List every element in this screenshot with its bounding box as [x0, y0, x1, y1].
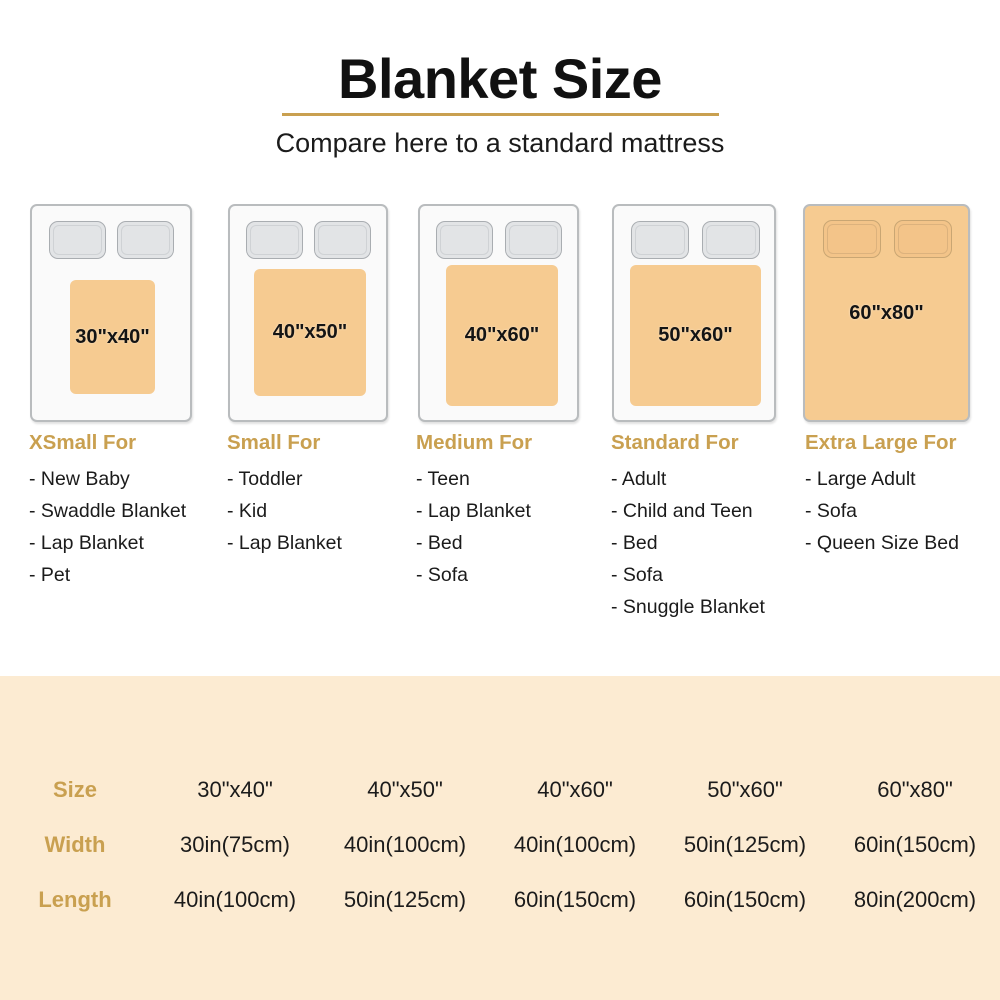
- category-list-item: - Sofa: [416, 559, 612, 591]
- table-cell: 60"x80": [830, 762, 1000, 817]
- category-list-item: - Sofa: [611, 559, 811, 591]
- category-column-extra-large: Extra Large For - Large Adult - Sofa - Q…: [805, 430, 1000, 559]
- table-cell: 40in(100cm): [490, 817, 660, 872]
- pillow-right-icon: [314, 221, 371, 259]
- row-header-width: Width: [0, 817, 150, 872]
- category-column-xsmall: XSmall For - New Baby - Swaddle Blanket …: [29, 430, 229, 591]
- category-title: Small For: [227, 430, 417, 456]
- blanket-size-label: 60"x80": [849, 302, 924, 325]
- pillow-right-icon: [702, 221, 760, 259]
- table-cell: 50"x60": [660, 762, 830, 817]
- category-title: Standard For: [611, 430, 811, 456]
- bed-diagram-extra-large: 60"x80": [803, 204, 970, 422]
- table-cell: 60in(150cm): [830, 817, 1000, 872]
- category-list-item: - Bed: [416, 527, 612, 559]
- blanket-size-label: 40"x50": [273, 321, 348, 344]
- category-column-medium: Medium For - Teen - Lap Blanket - Bed - …: [416, 430, 612, 591]
- category-list-item: - Snuggle Blanket: [611, 591, 811, 623]
- table-cell: 80in(200cm): [830, 872, 1000, 927]
- category-list-item: - Bed: [611, 527, 811, 559]
- blanket-size-label: 30"x40": [75, 326, 150, 349]
- blanket-size-label: 50"x60": [658, 324, 733, 347]
- category-list-item: - Sofa: [805, 495, 1000, 527]
- category-list-item: - New Baby: [29, 463, 229, 495]
- table-cell: 60in(150cm): [490, 872, 660, 927]
- category-list-item: - Large Adult: [805, 463, 1000, 495]
- category-column-small: Small For - Toddler - Kid - Lap Blanket: [227, 430, 417, 559]
- blanket-overlay-standard: 50"x60": [630, 265, 761, 406]
- category-list-item: - Teen: [416, 463, 612, 495]
- size-spec-table: Size 30"x40" 40"x50" 40"x60" 50"x60" 60"…: [0, 762, 1000, 927]
- pillow-right-icon: [505, 221, 562, 259]
- bed-diagram-row: 30"x40" 40"x50" 40"x60": [0, 204, 1000, 422]
- row-header-length: Length: [0, 872, 150, 927]
- bed-diagram-standard: 50"x60": [612, 204, 776, 422]
- table-cell: 50in(125cm): [660, 817, 830, 872]
- blanket-overlay-xsmall: 30"x40": [70, 280, 155, 394]
- category-list-item: - Kid: [227, 495, 417, 527]
- blanket-overlay-medium: 40"x60": [446, 265, 558, 406]
- table-cell: 40in(100cm): [320, 817, 490, 872]
- page-subtitle: Compare here to a standard mattress: [0, 127, 1000, 159]
- bed-diagram-medium: 40"x60": [418, 204, 579, 422]
- header: Blanket Size Compare here to a standard …: [0, 48, 1000, 159]
- pillow-right-icon: [117, 221, 174, 259]
- category-title: Medium For: [416, 430, 612, 456]
- table-row: Size 30"x40" 40"x50" 40"x60" 50"x60" 60"…: [0, 762, 1000, 817]
- table-row: Width 30in(75cm) 40in(100cm) 40in(100cm)…: [0, 817, 1000, 872]
- table-cell: 30"x40": [150, 762, 320, 817]
- category-list-item: - Lap Blanket: [227, 527, 417, 559]
- table-cell: 60in(150cm): [660, 872, 830, 927]
- blanket-overlay-small: 40"x50": [254, 269, 366, 396]
- category-title: XSmall For: [29, 430, 229, 456]
- table-cell: 30in(75cm): [150, 817, 320, 872]
- title-underline-rule: [282, 113, 719, 116]
- category-list-item: - Lap Blanket: [29, 527, 229, 559]
- table-row: Length 40in(100cm) 50in(125cm) 60in(150c…: [0, 872, 1000, 927]
- category-list-item: - Swaddle Blanket: [29, 495, 229, 527]
- bed-diagram-small: 40"x50": [228, 204, 388, 422]
- table-cell: 50in(125cm): [320, 872, 490, 927]
- table-cell: 40"x50": [320, 762, 490, 817]
- size-spec-panel: Size 30"x40" 40"x50" 40"x60" 50"x60" 60"…: [0, 676, 1000, 1000]
- category-list-item: - Child and Teen: [611, 495, 811, 527]
- pillow-left-icon: [49, 221, 106, 259]
- pillow-left-icon: [631, 221, 689, 259]
- table-cell: 40in(100cm): [150, 872, 320, 927]
- pillow-left-icon: [246, 221, 303, 259]
- category-title: Extra Large For: [805, 430, 1000, 456]
- pillow-left-icon: [436, 221, 493, 259]
- category-column-standard: Standard For - Adult - Child and Teen - …: [611, 430, 811, 623]
- category-list-item: - Queen Size Bed: [805, 527, 1000, 559]
- blanket-overlay-extra-large: 60"x80": [809, 210, 964, 416]
- category-list-item: - Pet: [29, 559, 229, 591]
- category-list-item: - Adult: [611, 463, 811, 495]
- category-list-item: - Lap Blanket: [416, 495, 612, 527]
- category-list-item: - Toddler: [227, 463, 417, 495]
- table-cell: 40"x60": [490, 762, 660, 817]
- bed-diagram-xsmall: 30"x40": [30, 204, 192, 422]
- blanket-size-infographic: Blanket Size Compare here to a standard …: [0, 0, 1000, 1000]
- row-header-size: Size: [0, 762, 150, 817]
- blanket-size-label: 40"x60": [465, 324, 540, 347]
- page-title: Blanket Size: [0, 48, 1000, 110]
